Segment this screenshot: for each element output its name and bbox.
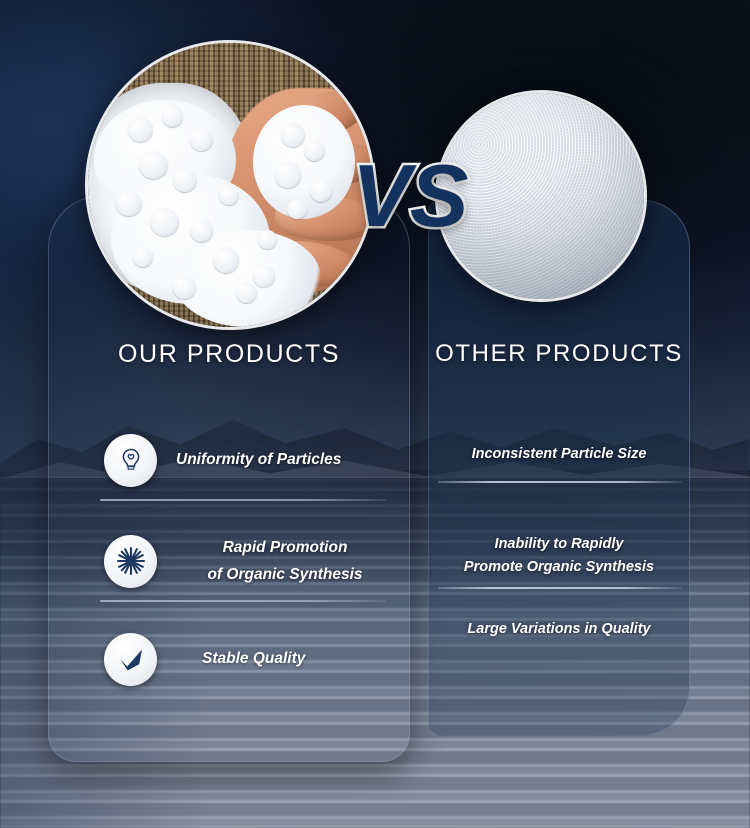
feature-label: Stable Quality	[202, 645, 305, 672]
lightbulb-icon	[104, 434, 157, 487]
feature-label: Uniformity of Particles	[176, 446, 341, 473]
other-item-inconsistent-size: Inconsistent Particle Size	[428, 443, 690, 466]
other-item-line1: Inability to Rapidly	[428, 533, 690, 556]
feature-divider	[100, 600, 386, 602]
feature-label: Rapid Promotion of Organic Synthesis	[176, 534, 394, 588]
our-product-photo	[85, 40, 375, 330]
other-item-line1: Large Variations in Quality	[428, 618, 690, 641]
other-item-large-variations: Large Variations in Quality	[428, 618, 690, 641]
feature-divider	[100, 499, 386, 501]
other-item-divider	[438, 587, 682, 589]
other-item-divider	[438, 481, 682, 483]
our-products-title: OUR PRODUCTS	[48, 340, 410, 369]
feature-item-rapid-promotion: Rapid Promotion of Organic Synthesis	[104, 533, 394, 589]
other-products-title: OTHER PRODUCTS	[428, 340, 690, 368]
other-item-inability-rapid: Inability to Rapidly Promote Organic Syn…	[428, 533, 690, 579]
other-item-line1: Inconsistent Particle Size	[428, 443, 690, 466]
feature-label-line2: of Organic Synthesis	[176, 561, 394, 588]
feature-item-uniformity: Uniformity of Particles	[104, 432, 394, 488]
other-item-line2: Promote Organic Synthesis	[428, 556, 690, 579]
feature-item-stable-quality: Stable Quality	[104, 631, 394, 687]
feature-label-line1: Rapid Promotion	[176, 534, 394, 561]
versus-label: VS	[352, 152, 472, 240]
checkmark-icon	[104, 633, 157, 686]
starburst-icon	[104, 535, 157, 588]
